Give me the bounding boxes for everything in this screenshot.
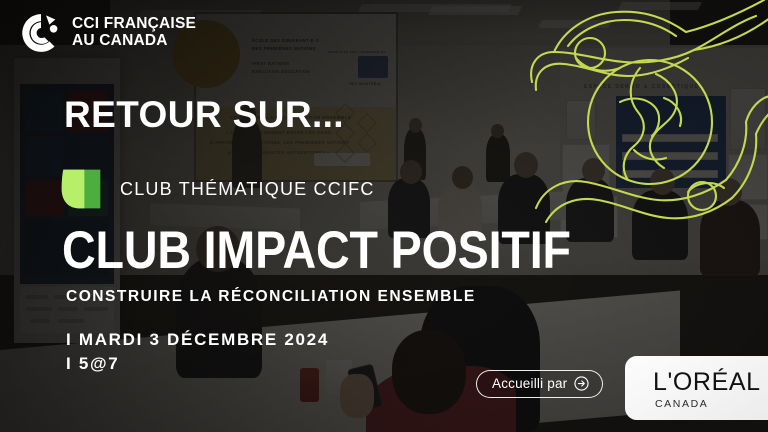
circled-arrow-right-icon [574, 376, 589, 391]
ccifc-logo: CCI FRANÇAISE AU CANADA [20, 12, 196, 54]
thematic-club-row: CLUB THÉMATIQUE CCIFC [60, 168, 375, 210]
sponsor-region: CANADA [655, 398, 708, 410]
ccifc-logo-text: CCI FRANÇAISE AU CANADA [72, 16, 196, 49]
ccifc-circle-logo-icon [20, 12, 62, 54]
hosted-by-label: Accueilli par [492, 376, 567, 391]
sponsor-name: L'ORÉAL [653, 368, 761, 397]
sponsor-panel: L'ORÉAL CANADA [625, 356, 768, 420]
event-date: I MARDI 3 DÉCEMBRE 2024 [66, 328, 329, 352]
kicker-retour-sur: RETOUR SUR... [64, 96, 344, 133]
event-recap-poster: ÉCOLE DES DIRIGEANT·E·S DES PREMIÈRES NA… [0, 0, 768, 432]
logo-line-1: CCI FRANÇAISE [72, 16, 196, 33]
logo-line-2: AU CANADA [72, 33, 196, 50]
green-leaf-icon [60, 168, 102, 210]
hosted-by-button[interactable]: Accueilli par [476, 370, 603, 398]
event-time: I 5@7 [66, 352, 329, 376]
event-title: CLUB IMPACT POSITIF [62, 224, 571, 277]
event-subtitle: CONSTRUIRE LA RÉCONCILIATION ENSEMBLE [66, 288, 476, 306]
poster-content: CCI FRANÇAISE AU CANADA RETOUR SUR... CL… [0, 0, 768, 432]
thematic-club-label: CLUB THÉMATIQUE CCIFC [120, 179, 375, 200]
event-datetime: I MARDI 3 DÉCEMBRE 2024 I 5@7 [66, 328, 329, 376]
